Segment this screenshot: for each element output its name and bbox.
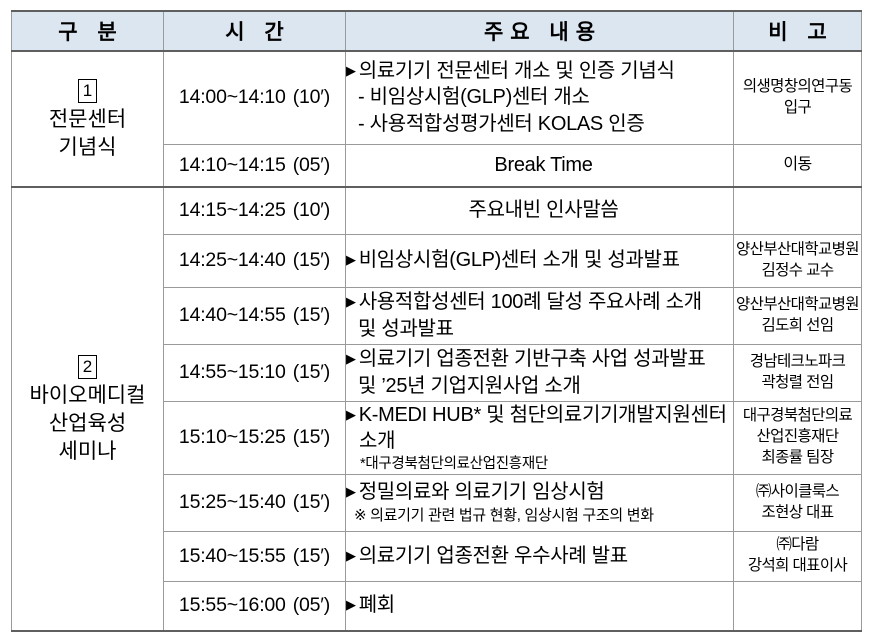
time-range: 14:10~14:15 — [179, 154, 286, 176]
schedule-sheet: 구 분 시 간 주요 내용 비 고 1전문센터기념식14:00~14:10(10… — [0, 10, 872, 628]
column-header-division: 구 분 — [12, 11, 164, 51]
content-cell: ▶K-MEDI HUB* 및 첨단의료기기개발지원센터 소개*대구경북첨단의료산… — [346, 401, 734, 474]
time-range: 15:40~15:55 — [179, 545, 286, 567]
remarks-cell: 양산부산대학교병원김도희 선임 — [734, 287, 862, 344]
time-cell: 14:00~14:10(10′) — [164, 51, 346, 144]
time-duration: (05′) — [293, 154, 330, 176]
content-bullet-line: ▶정밀의료와 의료기기 임상시험 — [346, 479, 733, 506]
time-cell: 14:25~14:40(15′) — [164, 234, 346, 287]
time-cell: 15:55~16:00(05′) — [164, 581, 346, 631]
remarks-line: 조현상 대표 — [734, 503, 861, 524]
section-title-line: 기념식 — [12, 134, 163, 162]
content-cell: ▶폐회 — [346, 581, 734, 631]
content-cell: ▶사용적합성센터 100례 달성 주요사례 소개및 성과발표 — [346, 287, 734, 344]
time-cell: 14:55~15:10(15′) — [164, 344, 346, 401]
remarks-cell: ㈜사이클룩스조현상 대표 — [734, 474, 862, 531]
time-range: 14:00~14:10 — [179, 86, 286, 108]
remarks-line: 강석희 대표이사 — [734, 556, 861, 577]
time-range: 14:40~14:55 — [179, 304, 286, 326]
remarks-line: 산업진흥재단 — [734, 427, 861, 448]
column-header-time: 시 간 — [164, 11, 346, 51]
content-cell: ▶의료기기 전문센터 개소 및 인증 기념식- 비임상시험(GLP)센터 개소-… — [346, 51, 734, 144]
content-bullet-line: ▶의료기기 업종전환 기반구축 사업 성과발표 — [346, 346, 733, 373]
remarks-line: ㈜사이클룩스 — [734, 482, 861, 503]
time-duration: (15′) — [293, 491, 330, 513]
remarks-cell — [734, 187, 862, 234]
time-duration: (15′) — [293, 249, 330, 271]
remarks-cell: 대구경북첨단의료산업진흥재단최종률 팀장 — [734, 401, 862, 474]
content-footnote: *대구경북첨단의료산업진흥재단 — [346, 455, 733, 474]
content-cell: ▶비임상시험(GLP)센터 소개 및 성과발표 — [346, 234, 734, 287]
content-cell: ▶의료기기 업종전환 우수사례 발표 — [346, 531, 734, 581]
time-range: 15:10~15:25 — [179, 426, 286, 448]
remarks-line: 대구경북첨단의료 — [734, 406, 861, 427]
remarks-cell — [734, 581, 862, 631]
triangle-bullet-icon: ▶ — [346, 597, 356, 612]
table-row: 1전문센터기념식14:00~14:10(10′)▶의료기기 전문센터 개소 및 … — [12, 51, 862, 144]
remarks-cell: ㈜다람강석희 대표이사 — [734, 531, 862, 581]
content-sub-line: - 사용적합성평가센터 KOLAS 인증 — [346, 111, 733, 138]
time-duration: (10′) — [293, 86, 330, 108]
section-title-line: 바이오메디컬 — [12, 382, 163, 410]
content-plain-line: 주요내빈 인사말씀 — [354, 197, 733, 224]
time-cell: 14:15~14:25(10′) — [164, 187, 346, 234]
remarks-line: 이동 — [734, 154, 861, 176]
content-sub-line: - 비임상시험(GLP)센터 개소 — [346, 84, 733, 111]
remarks-cell: 경남테크노파크곽청렬 전임 — [734, 344, 862, 401]
time-cell: 15:25~15:40(15′) — [164, 474, 346, 531]
remarks-line: 경남테크노파크 — [734, 352, 861, 373]
time-range: 15:55~16:00 — [179, 594, 286, 616]
section-label-1: 1전문센터기념식 — [12, 51, 164, 187]
triangle-bullet-icon: ▶ — [346, 294, 356, 309]
section-label-2: 2바이오메디컬산업육성세미나 — [12, 187, 164, 631]
content-cell: ▶정밀의료와 의료기기 임상시험※ 의료기기 관련 법규 현황, 임상시험 구조… — [346, 474, 734, 531]
time-duration: (15′) — [293, 545, 330, 567]
time-range: 15:25~15:40 — [179, 491, 286, 513]
triangle-bullet-icon: ▶ — [346, 548, 356, 563]
content-continued-line: 및 성과발표 — [346, 316, 733, 343]
remarks-cell: 양산부산대학교병원김정수 교수 — [734, 234, 862, 287]
time-duration: (05′) — [293, 594, 330, 616]
triangle-bullet-icon: ▶ — [346, 484, 356, 499]
time-duration: (15′) — [293, 304, 330, 326]
triangle-bullet-icon: ▶ — [346, 63, 356, 78]
schedule-table: 구 분 시 간 주요 내용 비 고 1전문센터기념식14:00~14:10(10… — [11, 10, 862, 632]
section-number-badge: 2 — [78, 355, 97, 379]
column-header-remarks: 비 고 — [734, 11, 862, 51]
remarks-line: 의생명창의연구동 — [734, 77, 861, 98]
remarks-line: 양산부산대학교병원 — [734, 295, 861, 316]
section-title-line: 전문센터 — [12, 106, 163, 134]
content-cell: ▶의료기기 업종전환 기반구축 사업 성과발표및 ’25년 기업지원사업 소개 — [346, 344, 734, 401]
time-range: 14:55~15:10 — [179, 361, 286, 383]
triangle-bullet-icon: ▶ — [346, 351, 356, 366]
time-range: 14:25~14:40 — [179, 249, 286, 271]
section-number-badge: 1 — [78, 79, 97, 103]
time-cell: 15:40~15:55(15′) — [164, 531, 346, 581]
section-title-line: 세미나 — [12, 438, 163, 466]
column-header-content: 주요 내용 — [346, 11, 734, 51]
triangle-bullet-icon: ▶ — [346, 252, 356, 267]
section-title-line: 산업육성 — [12, 410, 163, 438]
remarks-line: 입구 — [734, 98, 861, 119]
content-footnote: ※ 의료기기 관련 법규 현황, 임상시험 구조의 변화 — [346, 506, 733, 526]
remarks-cell: 이동 — [734, 144, 862, 187]
remarks-line: 김도희 선임 — [734, 316, 861, 337]
triangle-bullet-icon: ▶ — [346, 407, 356, 422]
table-header-row: 구 분 시 간 주요 내용 비 고 — [12, 11, 862, 51]
remarks-line: 양산부산대학교병원 — [734, 240, 861, 261]
remarks-line: 곽청렬 전임 — [734, 373, 861, 394]
table-body: 1전문센터기념식14:00~14:10(10′)▶의료기기 전문센터 개소 및 … — [12, 51, 862, 631]
time-cell: 14:40~14:55(15′) — [164, 287, 346, 344]
content-bullet-line: ▶의료기기 전문센터 개소 및 인증 기념식 — [346, 58, 733, 85]
remarks-line: ㈜다람 — [734, 535, 861, 556]
time-duration: (10′) — [293, 199, 330, 221]
content-bullet-line: ▶K-MEDI HUB* 및 첨단의료기기개발지원센터 소개 — [346, 402, 733, 455]
remarks-cell: 의생명창의연구동입구 — [734, 51, 862, 144]
content-bullet-line: ▶폐회 — [346, 592, 733, 619]
content-plain-line: Break Time — [354, 152, 733, 179]
content-bullet-line: ▶비임상시험(GLP)센터 소개 및 성과발표 — [346, 247, 733, 274]
content-cell: 주요내빈 인사말씀 — [346, 187, 734, 234]
time-cell: 14:10~14:15(05′) — [164, 144, 346, 187]
content-bullet-line: ▶의료기기 업종전환 우수사례 발표 — [346, 543, 733, 570]
time-duration: (15′) — [293, 361, 330, 383]
remarks-line: 김정수 교수 — [734, 261, 861, 282]
table-row: 2바이오메디컬산업육성세미나14:15~14:25(10′)주요내빈 인사말씀 — [12, 187, 862, 234]
content-bullet-line: ▶사용적합성센터 100례 달성 주요사례 소개 — [346, 289, 733, 316]
time-range: 14:15~14:25 — [179, 199, 286, 221]
time-duration: (15′) — [293, 426, 330, 448]
remarks-line: 최종률 팀장 — [734, 448, 861, 469]
content-cell: Break Time — [346, 144, 734, 187]
time-cell: 15:10~15:25(15′) — [164, 401, 346, 474]
content-continued-line: 및 ’25년 기업지원사업 소개 — [346, 373, 733, 400]
